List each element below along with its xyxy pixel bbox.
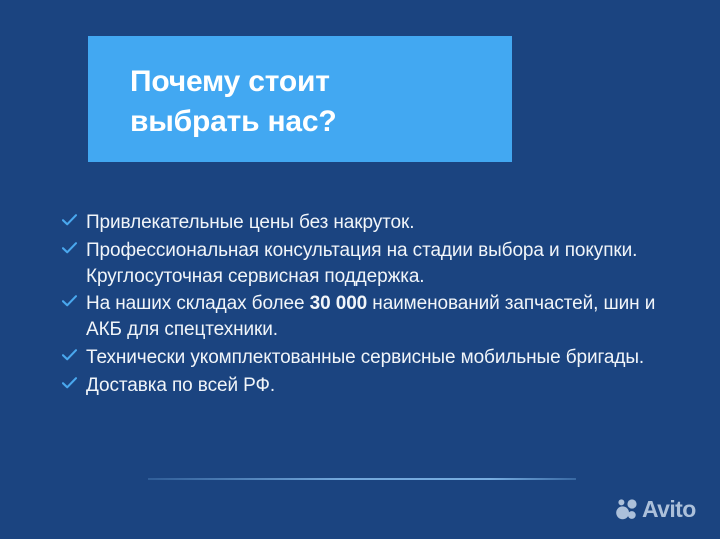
check-icon <box>62 345 86 361</box>
avito-watermark: Avito <box>616 498 696 521</box>
list-item-text: Технически укомплектованные сервисные мо… <box>86 345 672 371</box>
list-item: Доставка по всей РФ. <box>62 373 672 399</box>
list-item-text: На наших складах более 30 000 наименован… <box>86 291 672 343</box>
page-title: Почему стоит выбрать нас? <box>130 62 512 141</box>
check-icon <box>62 238 86 254</box>
avito-wordmark: Avito <box>642 498 696 521</box>
list-item: Профессиональная консультация на стадии … <box>62 238 672 290</box>
divider <box>148 478 576 480</box>
benefits-list: Привлекательные цены без накруток. Профе… <box>62 210 672 401</box>
check-icon <box>62 291 86 307</box>
list-item: Технически укомплектованные сервисные мо… <box>62 345 672 371</box>
check-icon <box>62 210 86 226</box>
title-banner: Почему стоит выбрать нас? <box>88 36 512 162</box>
list-item: Привлекательные цены без накруток. <box>62 210 672 236</box>
list-item-text: Доставка по всей РФ. <box>86 373 672 399</box>
list-item: На наших складах более 30 000 наименован… <box>62 291 672 343</box>
check-icon <box>62 373 86 389</box>
list-item-text: Привлекательные цены без накруток. <box>86 210 672 236</box>
list-item-text: Профессиональная консультация на стадии … <box>86 238 672 290</box>
avito-dots-icon <box>616 499 639 521</box>
slide-canvas: Почему стоит выбрать нас? Привлекательны… <box>0 0 720 539</box>
